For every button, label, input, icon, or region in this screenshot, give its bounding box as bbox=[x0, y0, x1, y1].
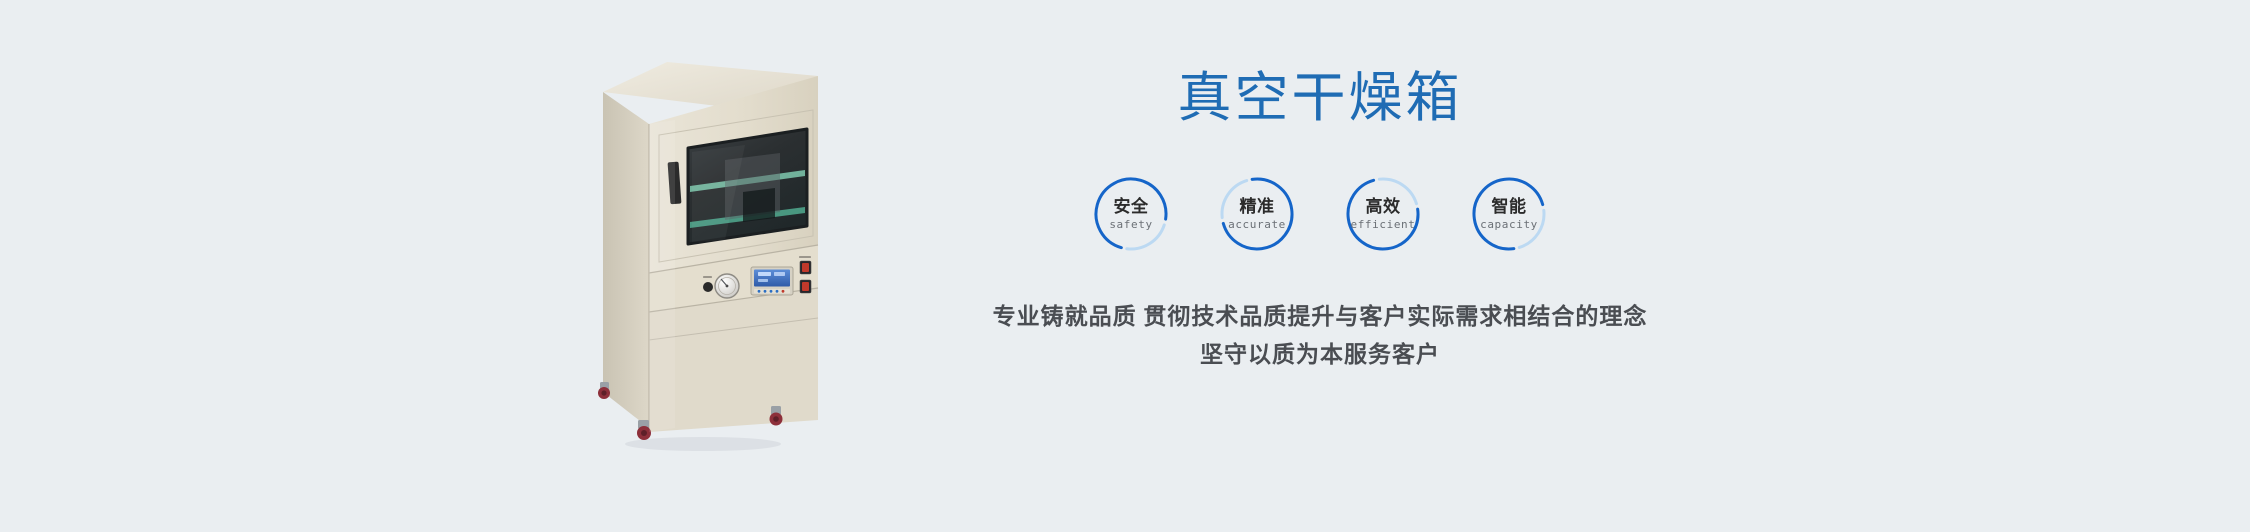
badge-label-cn: 安全 bbox=[1114, 198, 1149, 215]
badge-label-cn: 高效 bbox=[1366, 198, 1401, 215]
feature-badge-accurate: 精准 accurate bbox=[1217, 174, 1297, 254]
vacuum-drying-oven-illustration bbox=[575, 40, 825, 460]
feature-badge-list: 安全 safety 精准 accurate bbox=[940, 174, 1700, 254]
product-photo bbox=[575, 40, 825, 460]
banner-content: 真空干燥箱 安全 safety bbox=[940, 40, 1700, 440]
feature-badge-capacity: 智能 capacity bbox=[1469, 174, 1549, 254]
badge-label-en: efficient bbox=[1350, 219, 1415, 230]
caster-rear-left bbox=[598, 382, 610, 399]
badge-label-en: accurate bbox=[1228, 219, 1286, 230]
caster-front-left bbox=[637, 420, 651, 440]
badge-label-en: safety bbox=[1109, 219, 1152, 230]
tagline-line-1: 专业铸就品质 贯彻技术品质提升与客户实际需求相结合的理念 bbox=[940, 298, 1700, 335]
caster-front-right bbox=[770, 406, 783, 426]
feature-badge-safety: 安全 safety bbox=[1091, 174, 1171, 254]
badge-label-en: capacity bbox=[1480, 219, 1538, 230]
badge-label-cn: 精准 bbox=[1240, 198, 1275, 215]
badge-label-cn: 智能 bbox=[1492, 198, 1527, 215]
product-banner: 真空干燥箱 安全 safety bbox=[0, 0, 2250, 532]
feature-badge-efficient: 高效 efficient bbox=[1343, 174, 1423, 254]
tagline-line-2: 坚守以质为本服务客户 bbox=[940, 336, 1700, 373]
page-title: 真空干燥箱 bbox=[940, 40, 1700, 128]
tagline: 专业铸就品质 贯彻技术品质提升与客户实际需求相结合的理念 坚守以质为本服务客户 bbox=[940, 298, 1700, 373]
